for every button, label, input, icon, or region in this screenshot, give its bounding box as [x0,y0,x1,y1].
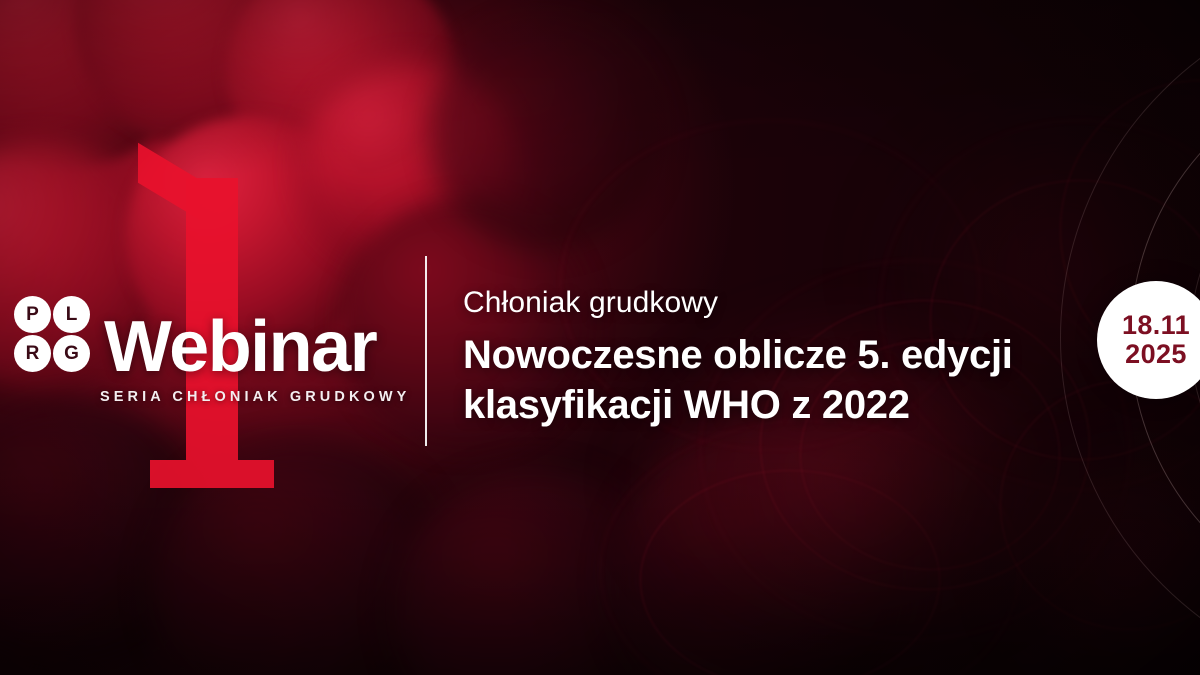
plrg-logo-letter-p: P [14,296,51,333]
plrg-logo-letter-r: R [14,335,51,372]
numeral-base [150,460,274,488]
topic-kicker: Chłoniak grudkowy [463,286,1013,319]
title-block: Chłoniak grudkowy Nowoczesne oblicze 5. … [463,286,1013,430]
webinar-banner: P L R G Webinar SERIA CHŁONIAK GRUDKOWY … [0,0,1200,675]
headline-line-2: klasyfikacji WHO z 2022 [463,380,1013,430]
plrg-logo[interactable]: P L R G [14,296,90,372]
date-day-month: 18.11 [1122,311,1190,340]
vertical-divider [425,256,427,446]
plrg-logo-letter-l: L [53,296,90,333]
headline-line-1: Nowoczesne oblicze 5. edycji [463,333,1013,377]
webinar-wordmark: Webinar [104,318,376,377]
plrg-logo-letter-g: G [53,335,90,372]
series-subtitle: SERIA CHŁONIAK GRUDKOWY [100,389,410,405]
date-year: 2025 [1125,340,1187,369]
brand-block: P L R G Webinar SERIA CHŁONIAK GRUDKOWY [14,296,410,405]
headline: Nowoczesne oblicze 5. edycji klasyfikacj… [463,330,1013,430]
logo-and-title-row: P L R G Webinar [14,296,410,377]
